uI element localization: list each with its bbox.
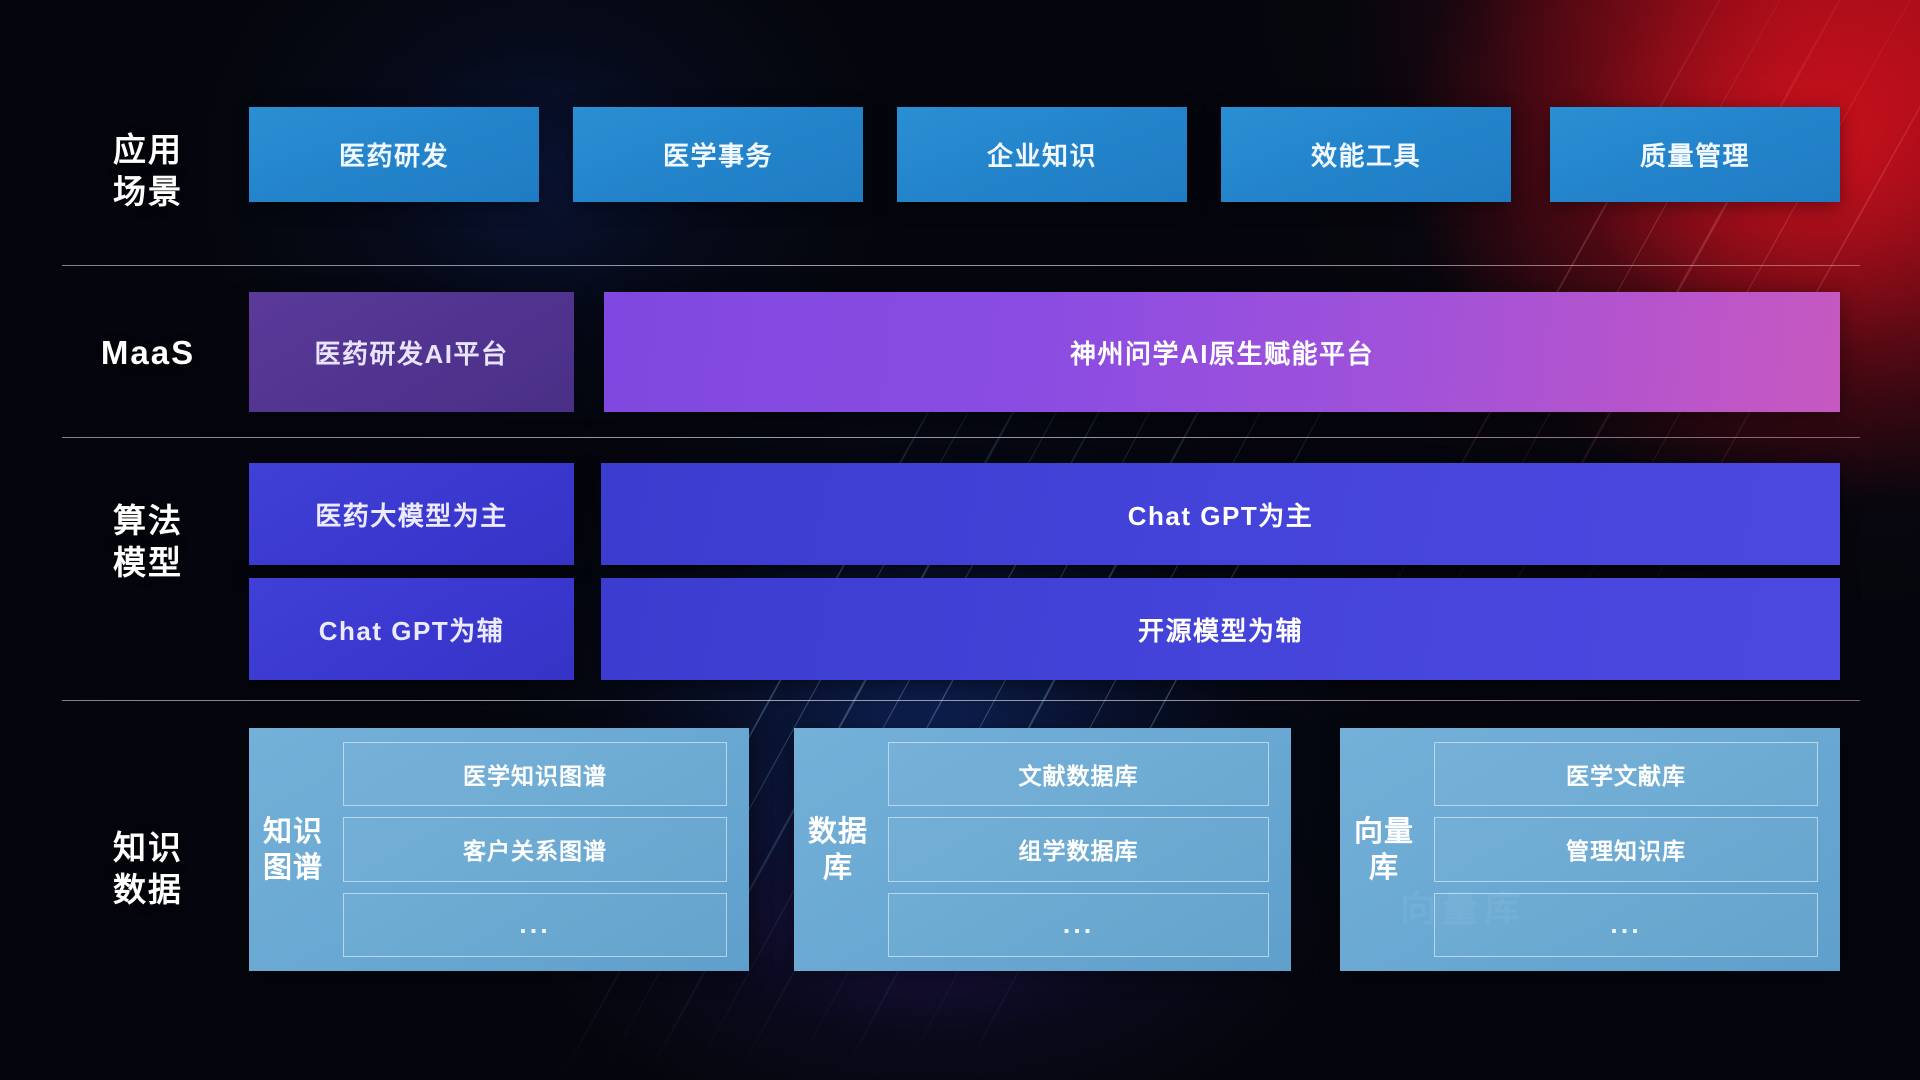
knowledge-item-database-more[interactable]: ... (888, 893, 1269, 957)
knowledge-item-database-1[interactable]: 文献数据库 (888, 742, 1269, 806)
divider-3 (62, 700, 1860, 701)
maas-platform-label-pharma: 医药研发AI平台 (314, 334, 508, 371)
app-scenario-label-5: 质量管理 (1640, 136, 1750, 173)
knowledge-group-vector[interactable]: 向量 库 医学文献库 管理知识库 ... (1340, 728, 1840, 971)
knowledge-item-list-database: 文献数据库 组学数据库 ... (882, 728, 1291, 971)
knowledge-item-graph-1[interactable]: 医学知识图谱 (343, 742, 727, 806)
app-scenario-box-1[interactable]: 医药研发 (249, 107, 539, 202)
app-scenario-label-2: 医学事务 (663, 136, 773, 173)
knowledge-item-graph-more[interactable]: ... (343, 893, 727, 957)
row-label-maas: MaaS (48, 332, 248, 374)
knowledge-group-title-database: 数据 库 (794, 728, 882, 971)
row-label-application-scenarios: 应用 场景 (48, 129, 248, 213)
algorithm-box-tier2-left[interactable]: Chat GPT为辅 (249, 578, 574, 680)
algorithm-label-tier2-right: 开源模型为辅 (1138, 611, 1303, 648)
app-scenario-label-3: 企业知识 (987, 136, 1097, 173)
knowledge-item-vector-2[interactable]: 管理知识库 (1434, 817, 1818, 881)
knowledge-item-vector-more[interactable]: ... (1434, 893, 1818, 957)
algorithm-label-tier1-left: 医药大模型为主 (315, 496, 508, 533)
knowledge-group-graph[interactable]: 知识 图谱 医学知识图谱 客户关系图谱 ... (249, 728, 749, 971)
algorithm-label-tier1-right: Chat GPT为主 (1128, 496, 1313, 533)
knowledge-item-list-vector: 医学文献库 管理知识库 ... (1428, 728, 1840, 971)
diagram-canvas: 应用 场景 医药研发 医学事务 企业知识 效能工具 质量管理 MaaS 医药研发… (0, 0, 1920, 1080)
app-scenario-box-4[interactable]: 效能工具 (1221, 107, 1511, 202)
maas-platform-box-shenzhou[interactable]: 神州问学AI原生赋能平台 (604, 292, 1840, 412)
app-scenario-box-5[interactable]: 质量管理 (1550, 107, 1840, 202)
app-scenario-label-4: 效能工具 (1311, 136, 1421, 173)
divider-2 (62, 437, 1860, 438)
row-label-algorithm-model: 算法 模型 (48, 500, 248, 584)
knowledge-item-graph-2[interactable]: 客户关系图谱 (343, 817, 727, 881)
knowledge-item-database-2[interactable]: 组学数据库 (888, 817, 1269, 881)
algorithm-box-tier1-left[interactable]: 医药大模型为主 (249, 463, 574, 565)
knowledge-group-title-graph: 知识 图谱 (249, 728, 337, 971)
knowledge-group-database[interactable]: 数据 库 文献数据库 组学数据库 ... (794, 728, 1291, 971)
knowledge-group-title-vector: 向量 库 (1340, 728, 1428, 971)
maas-platform-box-pharma[interactable]: 医药研发AI平台 (249, 292, 574, 412)
knowledge-item-list-graph: 医学知识图谱 客户关系图谱 ... (337, 728, 749, 971)
algorithm-label-tier2-left: Chat GPT为辅 (319, 611, 504, 648)
app-scenario-box-3[interactable]: 企业知识 (897, 107, 1187, 202)
row-label-knowledge-data: 知识 数据 (48, 827, 248, 911)
algorithm-box-tier2-right[interactable]: 开源模型为辅 (601, 578, 1840, 680)
app-scenario-label-1: 医药研发 (339, 136, 449, 173)
maas-platform-label-shenzhou: 神州问学AI原生赋能平台 (1070, 334, 1374, 371)
divider-1 (62, 265, 1860, 266)
algorithm-box-tier1-right[interactable]: Chat GPT为主 (601, 463, 1840, 565)
knowledge-item-vector-1[interactable]: 医学文献库 (1434, 742, 1818, 806)
app-scenario-box-2[interactable]: 医学事务 (573, 107, 863, 202)
